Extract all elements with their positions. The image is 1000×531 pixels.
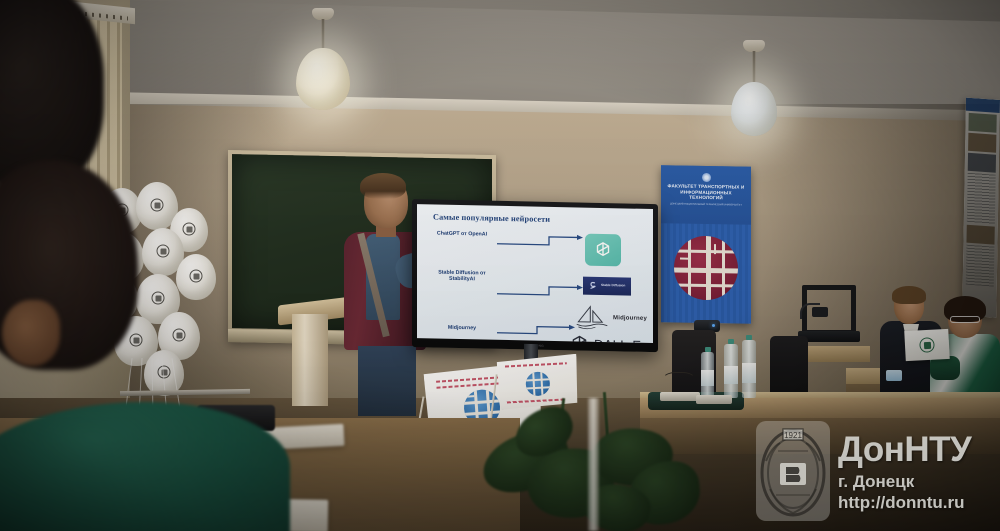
bottle-cap	[705, 347, 711, 352]
wall-poster	[962, 98, 1000, 318]
arrow-chatgpt-icon	[497, 232, 585, 244]
balloon-emblem-icon	[183, 223, 196, 236]
balloon-emblem-icon	[173, 329, 186, 342]
display-screen: Самые популярные нейросети ChatGPT от Op…	[417, 204, 653, 343]
presentation-display: Самые популярные нейросети ChatGPT от Op…	[412, 199, 658, 352]
stable-diffusion-wordmark: Stable Diffusion	[601, 284, 625, 288]
slide-label-stable-diffusion: Stable Diffusion от StabilityAI	[429, 269, 495, 283]
foreground-person-face	[2, 300, 60, 366]
hair	[892, 286, 926, 304]
flag-seal-icon	[919, 337, 935, 353]
midjourney-logo-icon: Midjourney	[575, 303, 653, 333]
printer-extruder	[812, 307, 828, 317]
banner-heading: ФАКУЛЬТЕТ ТРАНСПОРТНЫХ И ИНФОРМАЦИОННЫХ …	[661, 183, 751, 201]
lectern-body	[292, 314, 328, 406]
balloon-emblem-icon	[151, 199, 164, 212]
eyeglasses-icon	[950, 316, 980, 323]
slide-label-chatgpt: ChatGPT от OpenAI	[429, 230, 495, 238]
balloon-emblem-icon	[152, 292, 165, 305]
photo-scene: ФАКУЛЬТЕТ ТРАНСПОРТНЫХ И ИНФОРМАЦИОННЫХ …	[0, 0, 1000, 531]
bottle-cap	[746, 335, 752, 340]
presenter-hair	[360, 173, 406, 199]
bottle-label	[742, 363, 756, 383]
bottle-cap	[728, 339, 734, 344]
slide-title: Самые популярные нейросети	[433, 212, 644, 225]
banner-subheading: ДОНЕЦКИЙ НАЦИОНАЛЬНЫЙ ТЕХНИЧЕСКИЙ УНИВЕР…	[661, 200, 751, 207]
pendant-lamp-right	[706, 40, 802, 140]
stable-diffusion-logo-icon: Stable Diffusion	[583, 277, 631, 296]
name-badge	[886, 370, 902, 381]
sd-glyph-icon	[586, 280, 598, 292]
held-flag-card	[904, 329, 950, 361]
balloon-emblem-icon	[130, 334, 143, 347]
water-bottle	[742, 340, 756, 398]
poster-shading	[962, 98, 1000, 318]
banner-header: ФАКУЛЬТЕТ ТРАНСПОРТНЫХ И ИНФОРМАЦИОННЫХ …	[661, 165, 751, 225]
support-pole	[588, 398, 599, 531]
balloon-emblem-icon	[157, 245, 170, 258]
bottle-label	[701, 370, 714, 386]
openai-logo-icon	[585, 234, 621, 267]
lamp-globe	[296, 48, 350, 110]
balloon-emblem-icon	[190, 270, 203, 283]
bottle-label	[724, 366, 738, 384]
faculty-banner: ФАКУЛЬТЕТ ТРАНСПОРТНЫХ И ИНФОРМАЦИОННЫХ …	[661, 165, 751, 324]
banner-road-emblem-icon	[674, 235, 738, 300]
midjourney-wordmark: Midjourney	[613, 315, 647, 322]
balloon	[176, 254, 216, 300]
slide: Самые популярные нейросети ChatGPT от Op…	[417, 204, 653, 343]
water-bottle	[724, 344, 738, 398]
slide-rows: ChatGPT от OpenAI Stable Diffusion от St…	[417, 228, 653, 341]
presenter-legs	[358, 346, 416, 416]
foreground-person-shoulder	[0, 402, 290, 531]
lamp-globe	[731, 82, 777, 136]
midjourney-sailboat-icon	[575, 304, 609, 331]
pendant-lamp-left	[268, 8, 378, 118]
banner-crest-icon	[702, 173, 711, 182]
